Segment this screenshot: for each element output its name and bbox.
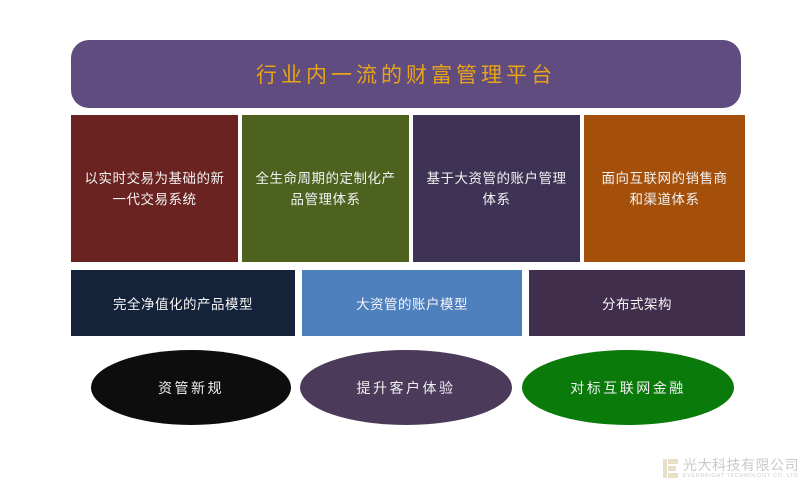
pillar-box-3-label: 基于大资管的账户管理体系: [425, 168, 568, 210]
driver-ellipse-3[interactable]: 对标互联网金融: [522, 350, 734, 425]
company-name-en: EVERBRIGHT TECHNOLOGY CO. LTD: [683, 474, 799, 480]
title-banner: 行业内一流的财富管理平台: [71, 40, 741, 108]
model-box-3-label: 分布式架构: [602, 293, 672, 313]
model-row: 完全净值化的产品模型 大资管的账户模型 分布式架构: [71, 270, 745, 336]
driver-ellipse-3-label: 对标互联网金融: [570, 378, 686, 398]
driver-ellipse-2[interactable]: 提升客户体验: [300, 350, 512, 425]
pillar-box-2[interactable]: 全生命周期的定制化产品管理体系: [242, 115, 409, 262]
pillar-box-1-label: 以实时交易为基础的新一代交易系统: [83, 168, 226, 210]
pillar-box-3[interactable]: 基于大资管的账户管理体系: [413, 115, 580, 262]
pillar-box-1[interactable]: 以实时交易为基础的新一代交易系统: [71, 115, 238, 262]
pillar-box-2-label: 全生命周期的定制化产品管理体系: [254, 168, 397, 210]
model-box-1-label: 完全净值化的产品模型: [113, 293, 253, 313]
pillar-box-4-label: 面向互联网的销售商和渠道体系: [596, 168, 733, 210]
company-name-cn: 光大科技有限公司: [683, 458, 799, 472]
driver-ellipse-1-label: 资管新规: [158, 378, 224, 398]
model-box-2[interactable]: 大资管的账户模型: [302, 270, 522, 336]
model-box-2-label: 大资管的账户模型: [356, 293, 468, 313]
driver-ellipse-1[interactable]: 资管新规: [91, 350, 291, 425]
everbright-logo-icon: [663, 459, 678, 478]
driver-row: 资管新规 提升客户体验 对标互联网金融: [71, 350, 745, 426]
model-box-1[interactable]: 完全净值化的产品模型: [71, 270, 295, 336]
footer-logo-text: 光大科技有限公司 EVERBRIGHT TECHNOLOGY CO. LTD: [683, 458, 799, 480]
driver-ellipse-2-label: 提升客户体验: [357, 378, 456, 398]
page-title: 行业内一流的财富管理平台: [256, 59, 556, 89]
model-box-3[interactable]: 分布式架构: [529, 270, 745, 336]
slide-canvas: 行业内一流的财富管理平台 以实时交易为基础的新一代交易系统 全生命周期的定制化产…: [0, 0, 799, 488]
pillar-row: 以实时交易为基础的新一代交易系统 全生命周期的定制化产品管理体系 基于大资管的账…: [71, 115, 745, 262]
footer-logo: 光大科技有限公司 EVERBRIGHT TECHNOLOGY CO. LTD: [663, 458, 799, 480]
pillar-box-4[interactable]: 面向互联网的销售商和渠道体系: [584, 115, 745, 262]
